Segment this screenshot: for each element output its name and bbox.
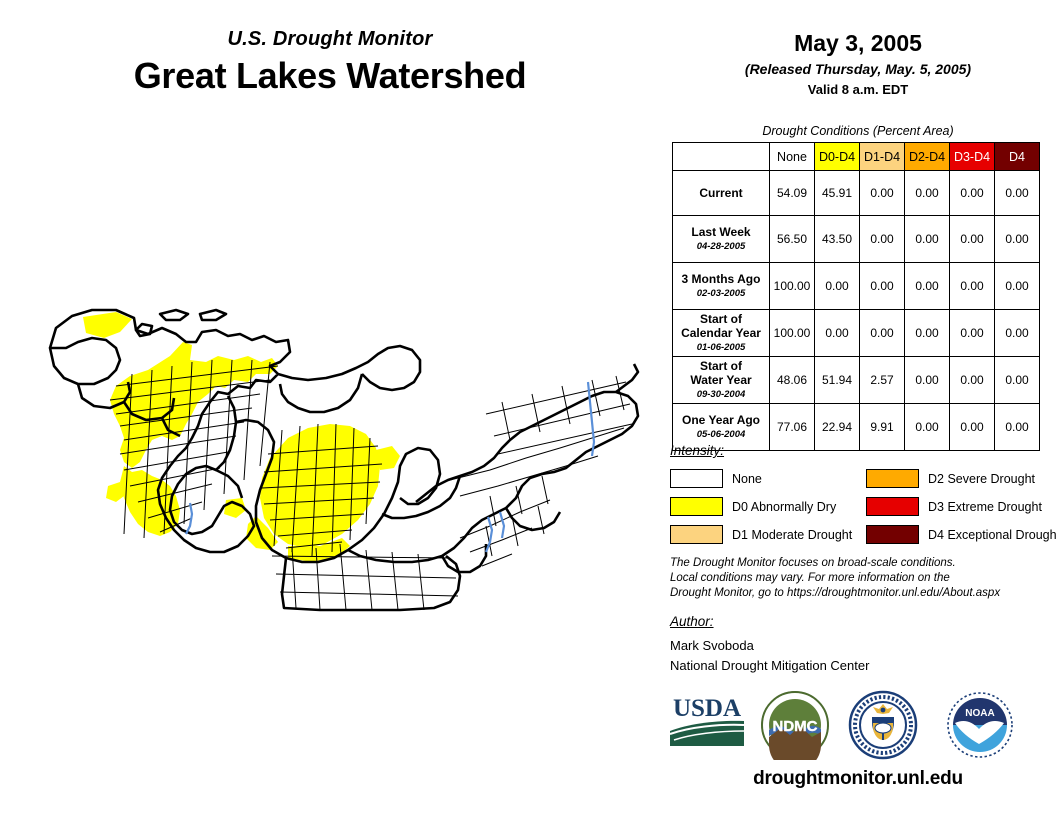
cell-d4: 0.00	[995, 404, 1040, 451]
map-date: May 3, 2005	[660, 30, 1056, 57]
cell-d0-d4: 45.91	[815, 171, 860, 216]
row-label-line: Last Week	[673, 225, 769, 239]
cell-none: 100.00	[770, 310, 815, 357]
ndmc-logo-text: NDMC	[773, 718, 818, 735]
cell-d3-d4: 0.00	[950, 310, 995, 357]
ndmc-logo: NDMC	[760, 690, 830, 760]
legend-item: D2 Severe Drought	[866, 466, 1056, 491]
cell-d1-d4: 0.00	[860, 263, 905, 310]
page-title: Great Lakes Watershed	[0, 55, 660, 97]
table-header-row: None D0-D4 D1-D4 D2-D4 D3-D4 D4	[673, 143, 1040, 171]
website-url: droughtmonitor.unl.edu	[660, 768, 1056, 790]
legend-swatch-icon	[670, 469, 723, 488]
map-d0-regions	[83, 312, 400, 562]
legend-swatch-icon	[670, 497, 723, 516]
title-block: U.S. Drought Monitor Great Lakes Watersh…	[0, 28, 660, 97]
row-label: 3 Months Ago02-03-2005	[673, 263, 770, 310]
legend-item: None	[670, 466, 852, 491]
row-date: 01-06-2005	[673, 341, 769, 355]
row-date: 04-28-2005	[673, 240, 769, 254]
cell-d1-d4: 0.00	[860, 216, 905, 263]
table-row: Start ofCalendar Year01-06-2005100.000.0…	[673, 310, 1040, 357]
table-row: 3 Months Ago02-03-2005100.000.000.000.00…	[673, 263, 1040, 310]
note-line-3: Drought Monitor, go to https://droughtmo…	[670, 586, 1000, 601]
logo-row: USDA NDMC NOAA	[660, 690, 1056, 762]
legend-item: D1 Moderate Drought	[670, 522, 852, 547]
valid-time: Valid 8 a.m. EDT	[660, 82, 1056, 97]
cell-d4: 0.00	[995, 357, 1040, 404]
cell-d2-d4: 0.00	[905, 263, 950, 310]
cell-d1-d4: 9.91	[860, 404, 905, 451]
note-line-1: The Drought Monitor focuses on broad-sca…	[670, 556, 1000, 571]
row-label-line: Water Year	[673, 373, 769, 387]
legend-column-right: D2 Severe DroughtD3 Extreme DroughtD4 Ex…	[866, 466, 1056, 550]
cell-d3-d4: 0.00	[950, 171, 995, 216]
legend-label: D0 Abnormally Dry	[732, 500, 836, 514]
cell-d0-d4: 0.00	[815, 263, 860, 310]
cell-d4: 0.00	[995, 310, 1040, 357]
row-label-line: One Year Ago	[673, 413, 769, 427]
header-d2-d4: D2-D4	[905, 143, 950, 171]
legend-label: D2 Severe Drought	[928, 472, 1035, 486]
cell-none: 56.50	[770, 216, 815, 263]
table-row: One Year Ago05-06-200477.0622.949.910.00…	[673, 404, 1040, 451]
legend-item: D4 Exceptional Drought	[866, 522, 1056, 547]
table-row: Start ofWater Year09-30-200448.0651.942.…	[673, 357, 1040, 404]
header-d1-d4: D1-D4	[860, 143, 905, 171]
table-row: Last Week04-28-200556.5043.500.000.000.0…	[673, 216, 1040, 263]
cell-d0-d4: 0.00	[815, 310, 860, 357]
header-d3-d4: D3-D4	[950, 143, 995, 171]
cell-none: 77.06	[770, 404, 815, 451]
disclaimer-note: The Drought Monitor focuses on broad-sca…	[670, 556, 1000, 601]
drought-conditions-table: None D0-D4 D1-D4 D2-D4 D3-D4 D4 Current5…	[672, 142, 1040, 451]
usda-logo: USDA	[668, 690, 746, 748]
cell-d0-d4: 22.94	[815, 404, 860, 451]
cell-d3-d4: 0.00	[950, 357, 995, 404]
cell-d1-d4: 2.57	[860, 357, 905, 404]
row-label: Start ofCalendar Year01-06-2005	[673, 310, 770, 357]
legend-label: D3 Extreme Drought	[928, 500, 1042, 514]
author-name: Mark Svoboda	[670, 636, 869, 656]
row-label-line: Calendar Year	[673, 326, 769, 340]
row-label-line: Start of	[673, 312, 769, 326]
release-date: (Released Thursday, May. 5, 2005)	[660, 61, 1056, 77]
author-org: National Drought Mitigation Center	[670, 656, 869, 676]
cell-d4: 0.00	[995, 216, 1040, 263]
date-block: May 3, 2005 (Released Thursday, May. 5, …	[660, 30, 1056, 97]
header-d4: D4	[995, 143, 1040, 171]
row-label-line: Start of	[673, 359, 769, 373]
usda-logo-text: USDA	[673, 695, 741, 722]
author-block: Mark Svoboda National Drought Mitigation…	[670, 636, 869, 676]
legend-item: D0 Abnormally Dry	[670, 494, 852, 519]
legend-label: None	[732, 472, 762, 486]
cell-d2-d4: 0.00	[905, 357, 950, 404]
row-label-line: Current	[673, 186, 769, 200]
legend-swatch-icon	[670, 525, 723, 544]
cell-d2-d4: 0.00	[905, 171, 950, 216]
row-label-line: 3 Months Ago	[673, 272, 769, 286]
legend-swatch-icon	[866, 469, 919, 488]
legend-label: D4 Exceptional Drought	[928, 528, 1056, 542]
table-caption: Drought Conditions (Percent Area)	[660, 124, 1056, 138]
legend-label: D1 Moderate Drought	[732, 528, 852, 542]
note-line-2: Local conditions may vary. For more info…	[670, 571, 1000, 586]
cell-none: 54.09	[770, 171, 815, 216]
cell-d2-d4: 0.00	[905, 310, 950, 357]
cell-d3-d4: 0.00	[950, 404, 995, 451]
author-heading: Author:	[670, 614, 714, 629]
header-blank	[673, 143, 770, 171]
drought-map	[20, 290, 650, 620]
legend-swatch-icon	[866, 525, 919, 544]
cell-d3-d4: 0.00	[950, 216, 995, 263]
legend-item: D3 Extreme Drought	[866, 494, 1056, 519]
cell-d3-d4: 0.00	[950, 263, 995, 310]
row-date: 05-06-2004	[673, 428, 769, 442]
cell-d0-d4: 43.50	[815, 216, 860, 263]
cell-d2-d4: 0.00	[905, 216, 950, 263]
cell-none: 48.06	[770, 357, 815, 404]
legend-swatch-icon	[866, 497, 919, 516]
row-label: Last Week04-28-2005	[673, 216, 770, 263]
row-date: 02-03-2005	[673, 287, 769, 301]
table-body: Current54.0945.910.000.000.000.00Last We…	[673, 171, 1040, 451]
cell-d1-d4: 0.00	[860, 310, 905, 357]
map-svg	[20, 290, 650, 620]
cell-d2-d4: 0.00	[905, 404, 950, 451]
cell-d0-d4: 51.94	[815, 357, 860, 404]
legend-column-left: NoneD0 Abnormally DryD1 Moderate Drought	[670, 466, 852, 550]
row-date: 09-30-2004	[673, 388, 769, 402]
table-row: Current54.0945.910.000.000.000.00	[673, 171, 1040, 216]
header-d0-d4: D0-D4	[815, 143, 860, 171]
header-none: None	[770, 143, 815, 171]
cell-d1-d4: 0.00	[860, 171, 905, 216]
noaa-logo-text: NOAA	[965, 708, 994, 719]
cell-d4: 0.00	[995, 171, 1040, 216]
row-label: Start ofWater Year09-30-2004	[673, 357, 770, 404]
program-subtitle: U.S. Drought Monitor	[0, 28, 660, 51]
usdc-seal-logo	[848, 690, 918, 760]
intensity-heading: Intensity:	[670, 443, 724, 458]
row-label: Current	[673, 171, 770, 216]
cell-none: 100.00	[770, 263, 815, 310]
noaa-logo: NOAA	[945, 690, 1015, 760]
cell-d4: 0.00	[995, 263, 1040, 310]
